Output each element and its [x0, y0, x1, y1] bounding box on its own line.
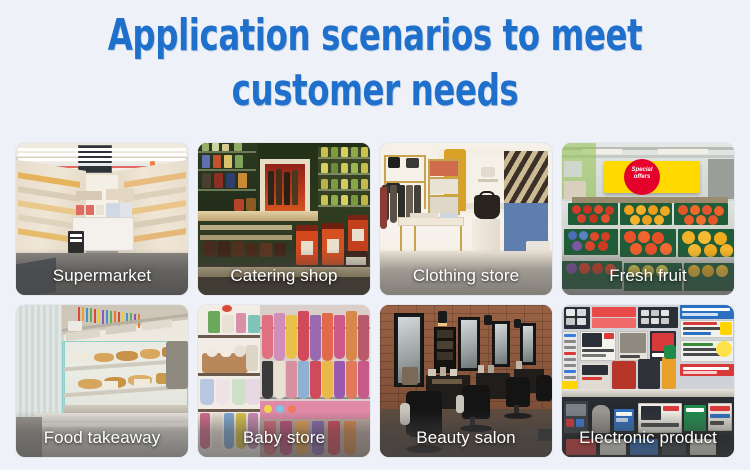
scenario-card-food-takeaway[interactable]: Food takeaway — [16, 305, 188, 457]
scenario-card-label: Clothing store — [380, 266, 552, 286]
scenario-card-label: Baby store — [198, 428, 370, 448]
scenario-card-label: Catering shop — [198, 266, 370, 286]
scenario-card-beauty-salon[interactable]: Beauty salon — [380, 305, 552, 457]
page-title-line-2: customer needs — [68, 63, 683, 118]
scenario-card-label: Fresh fruit — [562, 266, 734, 286]
scenario-card-label: Supermarket — [16, 266, 188, 286]
scenario-card-label: Electronic product — [562, 428, 734, 448]
page-title: Application scenarios to meet customer n… — [68, 8, 683, 118]
scenario-card-catering-shop[interactable]: Catering shop — [198, 143, 370, 295]
scenario-card-baby-store[interactable]: Baby store — [198, 305, 370, 457]
scenario-card-supermarket[interactable]: Supermarket — [16, 143, 188, 295]
page-title-line-1: Application scenarios to meet — [68, 8, 683, 63]
scenario-card-clothing-store[interactable]: Clothing store — [380, 143, 552, 295]
scenario-card-label: Food takeaway — [16, 428, 188, 448]
scenario-card-electronic-product[interactable]: Electronic product — [562, 305, 734, 457]
scenario-card-fresh-fruit[interactable]: Specialoffers — [562, 143, 734, 295]
scenario-card-label: Beauty salon — [380, 428, 552, 448]
special-offers-sign-text: Specialoffers — [624, 167, 660, 181]
scenario-card-grid: Supermarket — [16, 143, 734, 457]
application-scenarios-banner: Application scenarios to meet customer n… — [0, 0, 750, 470]
